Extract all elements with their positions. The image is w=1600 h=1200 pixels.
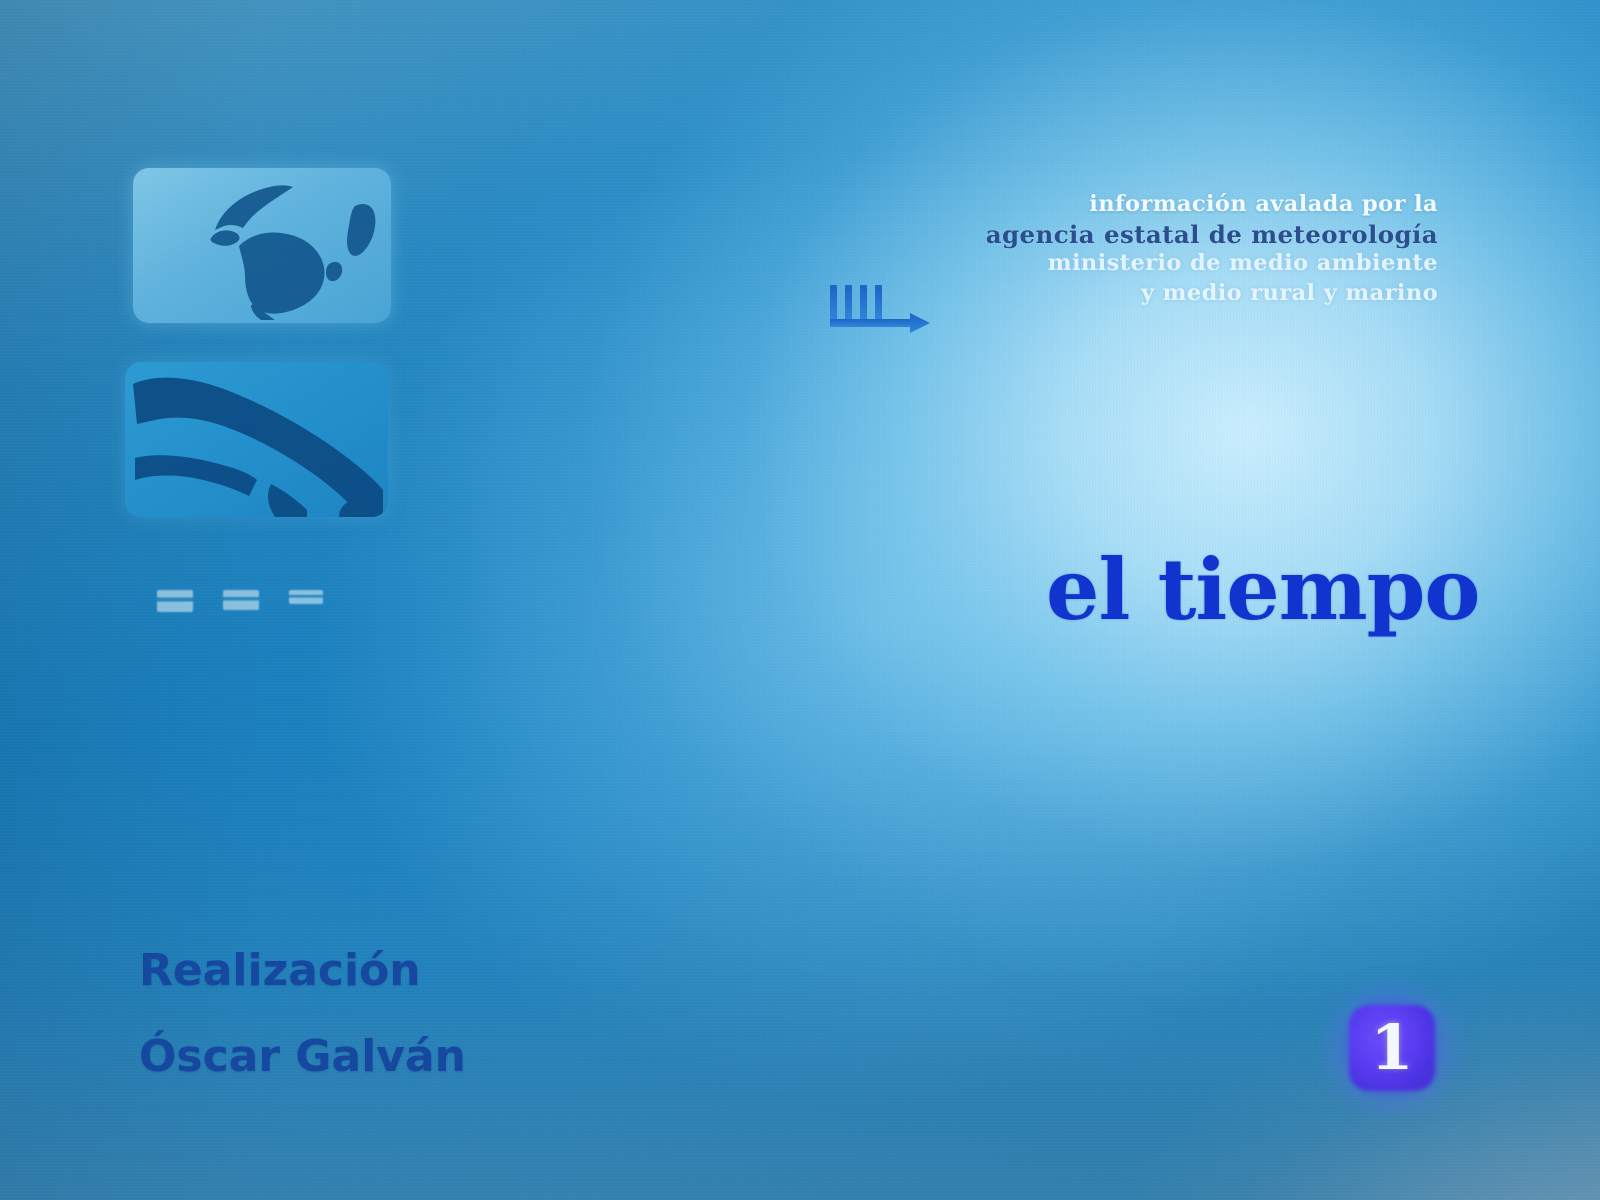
channel-badge: 1	[1349, 1005, 1435, 1091]
world-map-icon	[133, 168, 391, 323]
dash-marks-group	[157, 590, 323, 612]
agency-credit-line-1: información avalada por la	[818, 190, 1438, 220]
channel-badge-number: 1	[1349, 1005, 1435, 1091]
program-wordmark: el tiempo	[1046, 548, 1479, 632]
dash-mark-1	[157, 590, 193, 612]
credits-block: Realización Óscar Galván	[139, 928, 466, 1100]
agency-credit-line-2: agencia estatal de meteorología	[818, 220, 1438, 250]
agency-credit-line-4: y medio rural y marino	[818, 279, 1438, 309]
broadcast-credits-screen: información avalada por la agencia estat…	[0, 0, 1600, 1200]
agency-credit-text: información avalada por la agencia estat…	[818, 190, 1438, 308]
dash-mark-3	[289, 590, 323, 604]
credit-person-name: Óscar Galván	[139, 1014, 466, 1100]
credit-role-label: Realización	[139, 928, 466, 1014]
agency-credit-line-3: ministerio de medio ambiente	[818, 249, 1438, 279]
dash-mark-2	[223, 590, 259, 610]
satellite-sweep-icon	[125, 362, 388, 517]
